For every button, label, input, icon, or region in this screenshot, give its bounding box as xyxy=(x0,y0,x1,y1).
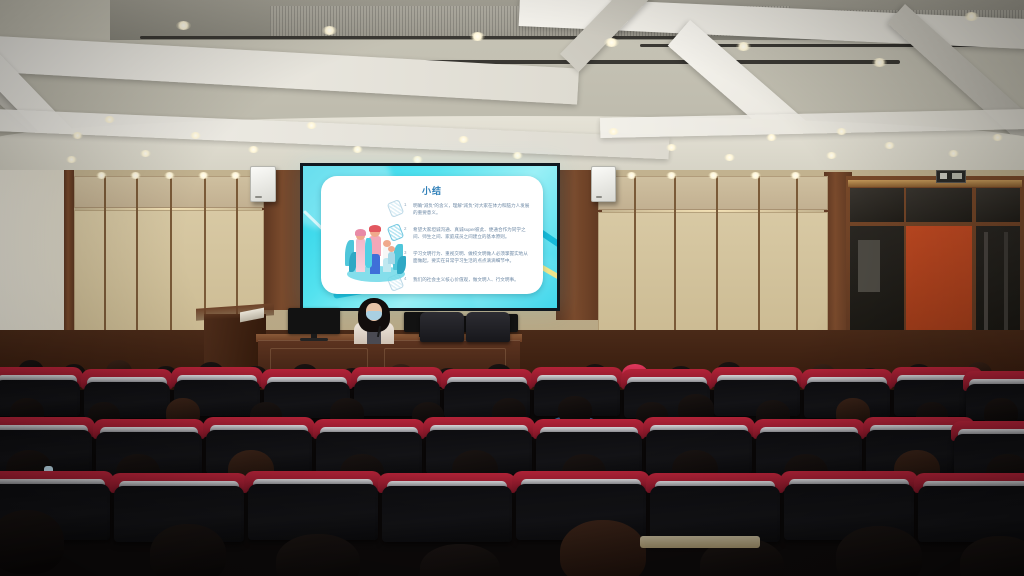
face-mask xyxy=(366,311,382,320)
audience-head xyxy=(276,534,360,576)
right-wall-speaker xyxy=(591,166,616,202)
slide-bullet-4: 4 我们的社会主义核心价值观，做文明人、行文明事。 xyxy=(413,276,531,283)
audience-head xyxy=(150,524,226,576)
slide-bullet-2: 2 希望大家坦诚沟通、真诚super彼此、便通合作为同学之间、师生之间、家庭成员… xyxy=(413,226,531,240)
stage-chair-right[interactable] xyxy=(466,312,510,342)
audience-head xyxy=(836,526,922,576)
audience-row-front xyxy=(0,500,1024,576)
front-desk-surface xyxy=(640,536,760,548)
slide-bullet-3: 3 学习文明行为、重视交明、做校文明做人必须掌握实地从面做起，要实在日常学习生活… xyxy=(413,250,531,264)
slide-title: 小结 xyxy=(321,184,543,197)
slide-bullet-4-text: 我们的社会主义核心价值观，做文明人、行文明事。 xyxy=(413,277,519,282)
slide-bullet-3-text: 学习文明行为、重视交明、做校文明做人必须掌握实地从面做起，要实在日常学习生活的点… xyxy=(413,251,528,263)
stage-chair-left[interactable] xyxy=(420,312,464,342)
slide-card: 小结 1 明确“减负”的含义，理解“减负”对大家在体力和脑力人发展的重要意义。 … xyxy=(321,176,543,294)
lecture-hall-photo: 小结 1 明确“减负”的含义，理解“减负”对大家在体力和脑力人发展的重要意义。 … xyxy=(0,0,1024,576)
audience-head xyxy=(960,536,1024,576)
exit-sign xyxy=(936,170,966,183)
audience-head xyxy=(0,510,64,574)
slide-bullet-2-text: 希望大家坦诚沟通、真诚super彼此、便通合作为同学之间、师生之间、家庭成员之间… xyxy=(413,227,526,239)
projection-screen: 小结 1 明确“减负”的含义，理解“减负”对大家在体力和脑力人发展的重要意义。 … xyxy=(300,163,560,311)
monitor-left-base xyxy=(300,338,328,341)
ceiling xyxy=(0,0,1024,178)
slide-bullet-1-text: 明确“减负”的含义，理解“减负”对大家在体力和脑力人发展的重要意义。 xyxy=(413,203,529,215)
audience-head xyxy=(420,544,500,576)
left-wall-speaker xyxy=(250,166,276,202)
audience-head xyxy=(560,520,646,576)
monitor-left xyxy=(288,308,340,334)
family-illustration xyxy=(345,216,407,284)
slide-bullet-1: 1 明确“减负”的含义，理解“减负”对大家在体力和脑力人发展的重要意义。 xyxy=(413,202,531,216)
presentation-slide: 小结 1 明确“减负”的含义，理解“减负”对大家在体力和脑力人发展的重要意义。 … xyxy=(303,166,557,308)
presenter xyxy=(352,296,396,344)
